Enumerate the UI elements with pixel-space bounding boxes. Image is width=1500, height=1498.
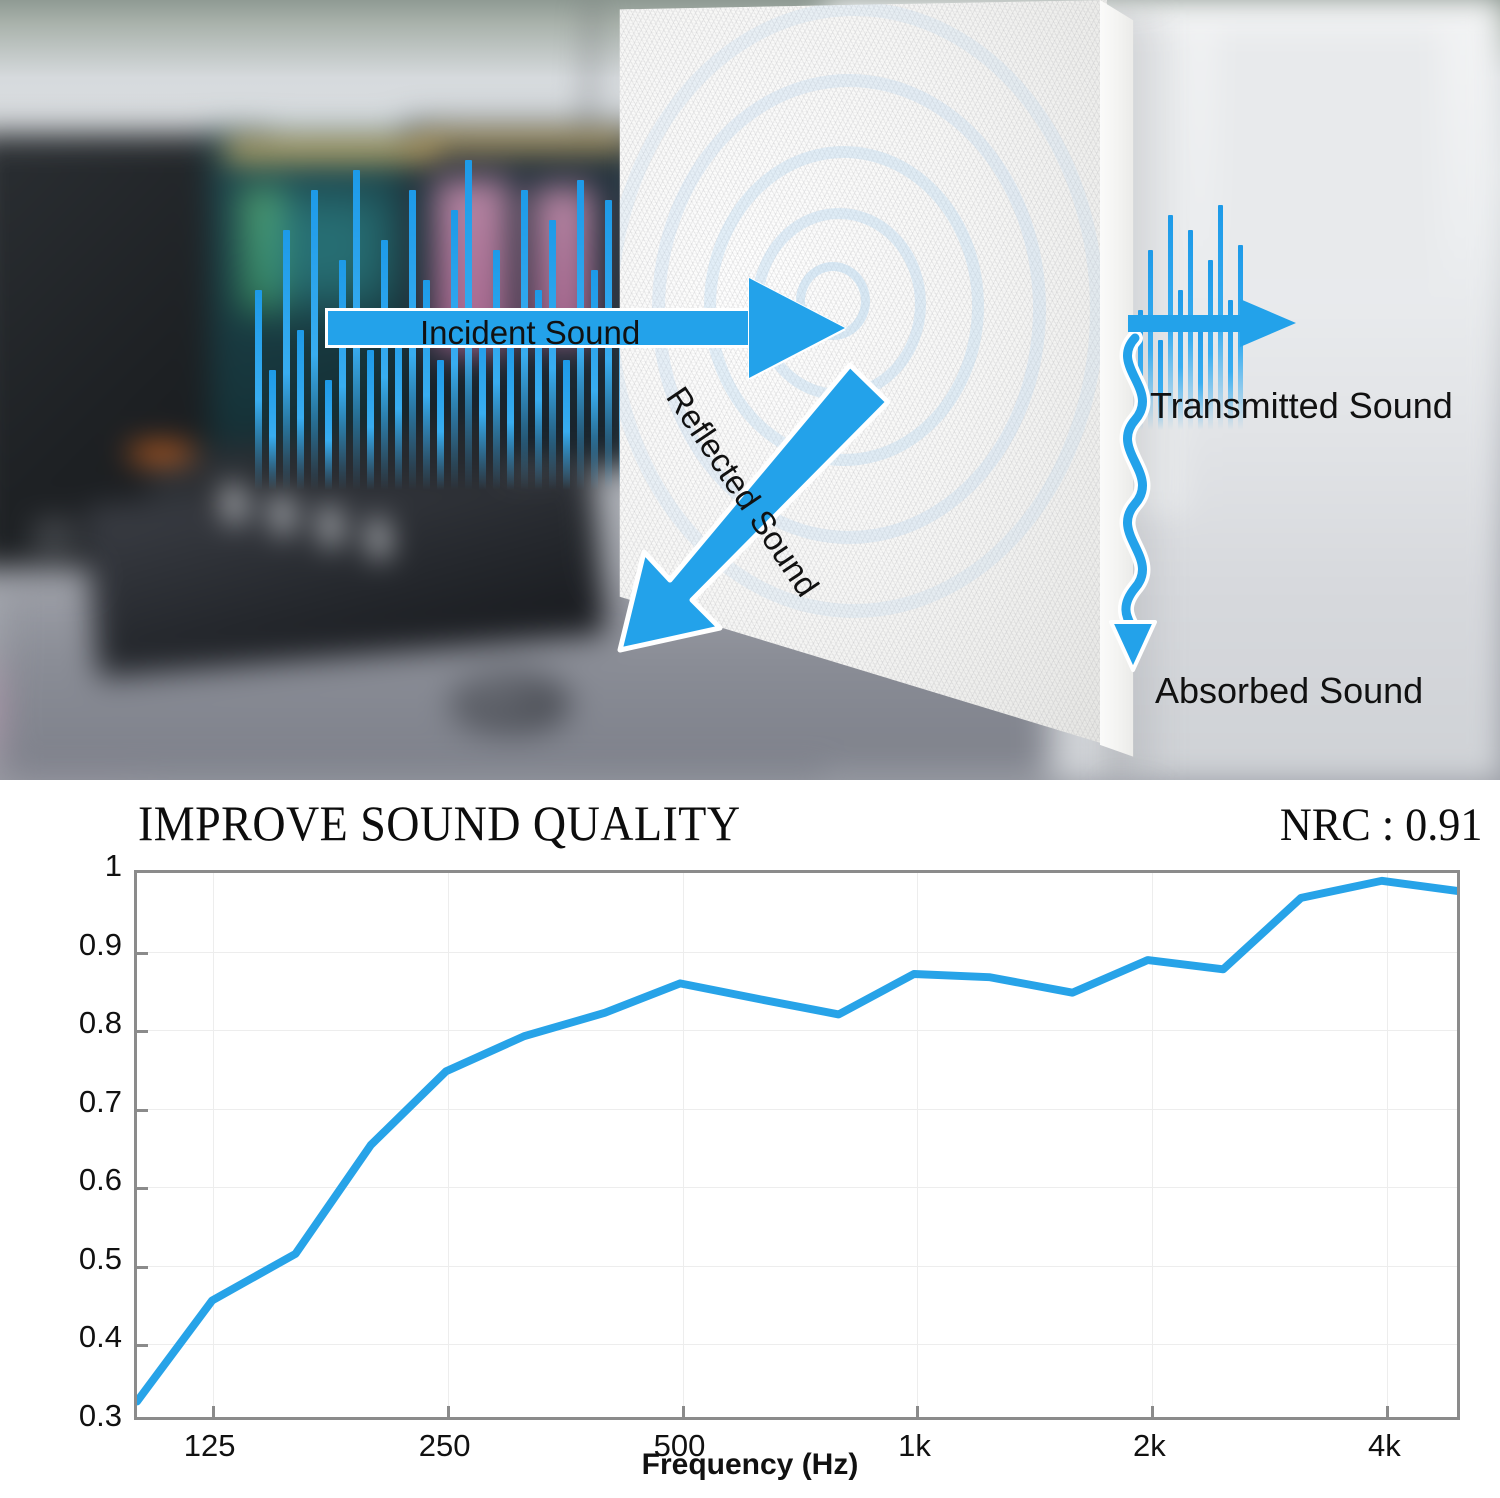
incident-sound-label: Incident Sound [420, 314, 640, 352]
y-tick-label: 0.9 [79, 927, 122, 963]
plot-area [134, 870, 1460, 1420]
x-tick-label: 250 [419, 1428, 471, 1464]
transmitted-sound-label: Transmitted Sound [1150, 385, 1453, 427]
absorption-chart: IMPROVE SOUND QUALITY NRC : 0.91 Absorpt… [0, 780, 1500, 1498]
x-tick-label: 500 [654, 1428, 706, 1464]
y-tick-label: 1 [105, 848, 122, 884]
screen-toolbar [420, 133, 630, 150]
nrc-value: NRC : 0.91 [1279, 798, 1482, 852]
absorbed-sound-label: Absorbed Sound [1155, 670, 1423, 712]
x-tick-label: 4k [1368, 1428, 1401, 1464]
y-tick-label: 0.3 [79, 1398, 122, 1434]
computer-mouse [450, 671, 570, 733]
chart-title: IMPROVE SOUND QUALITY [138, 794, 741, 852]
arrow-shaft [1128, 315, 1246, 332]
y-tick-label: 0.7 [79, 1084, 122, 1120]
x-tick-label: 125 [184, 1428, 236, 1464]
y-tick-label: 0.6 [79, 1162, 122, 1198]
absorbed-sound-arrow [1095, 330, 1185, 680]
x-tick-label: 1k [898, 1428, 931, 1464]
transmitted-sound-arrow [1128, 300, 1298, 352]
arrow-head [1240, 299, 1296, 347]
window-pane [1215, 31, 1440, 281]
product-infographic: Incident Sound Reflected Sound Transmitt… [0, 0, 1500, 1498]
incident-sound-arrow: Incident Sound [325, 300, 835, 356]
studio-photo-diagram: Incident Sound Reflected Sound Transmitt… [0, 0, 1500, 780]
console-knob [30, 515, 78, 557]
y-tick-label: 0.8 [79, 1005, 122, 1041]
data-series-line [137, 881, 1457, 1402]
absorption-curve [137, 873, 1457, 1417]
x-tick-label: 2k [1133, 1428, 1166, 1464]
screen-toolbar [225, 140, 435, 160]
console-led [128, 445, 194, 461]
y-tick-label: 0.4 [79, 1319, 122, 1355]
y-tick-label: 0.5 [79, 1241, 122, 1277]
